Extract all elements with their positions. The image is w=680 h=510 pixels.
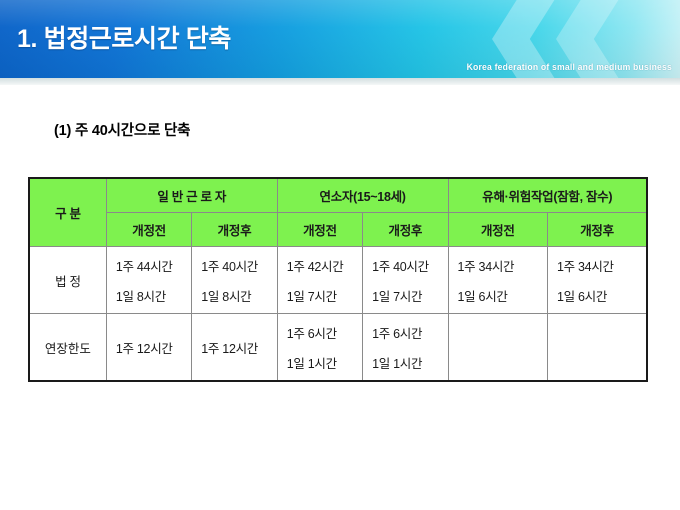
table-row: 연장한도 1주 12시간 1주 12시간 1주 6시간 1일 1시간 <box>29 314 647 382</box>
row-label-statutory: 법 정 <box>29 247 106 314</box>
banner-underline-band <box>0 78 680 85</box>
cell-overtime-youth-before: 1주 6시간 1일 1시간 <box>277 314 362 382</box>
cell-line-week: 1주 40시간 <box>372 256 441 275</box>
cell-statutory-general-after: 1주 40시간 1일 8시간 <box>192 247 277 314</box>
cell-line-week: 1주 34시간 <box>557 256 640 275</box>
table-header-gubun: 구 분 <box>29 178 106 247</box>
cell-content: 1주 44시간 1일 8시간 <box>107 247 191 313</box>
cell-overtime-hazardous-after <box>547 314 647 382</box>
working-hours-table: 구 분 일 반 근 로 자 연소자(15~18세) 유해·위험작업(잠함, 잠수… <box>28 177 648 382</box>
section-subtitle: (1) 주 40시간으로 단축 <box>54 119 190 140</box>
cell-statutory-general-before: 1주 44시간 1일 8시간 <box>106 247 191 314</box>
cell-statutory-hazardous-before: 1주 34시간 1일 6시간 <box>448 247 547 314</box>
cell-content: 1주 34시간 1일 6시간 <box>548 247 646 313</box>
cell-line-day: 1일 8시간 <box>201 286 270 305</box>
table-subheader-general-before: 개정전 <box>106 213 191 247</box>
table-header-group-row: 구 분 일 반 근 로 자 연소자(15~18세) 유해·위험작업(잠함, 잠수… <box>29 178 647 213</box>
row-label-overtime-limit: 연장한도 <box>29 314 106 382</box>
table-subheader-youth-after: 개정후 <box>363 213 448 247</box>
cell-line-day: 1일 8시간 <box>116 286 185 305</box>
cell-content: 1주 12시간 <box>107 314 191 380</box>
table-subheader-general-after: 개정후 <box>192 213 277 247</box>
cell-content: 1주 34시간 1일 6시간 <box>449 247 547 313</box>
cell-content: 1주 40시간 1일 8시간 <box>192 247 276 313</box>
cell-content: 1주 6시간 1일 1시간 <box>363 314 447 380</box>
table-header-group-general: 일 반 근 로 자 <box>106 178 277 213</box>
cell-line-week: 1주 40시간 <box>201 256 270 275</box>
cell-line-week: 1주 34시간 <box>458 256 541 275</box>
cell-content-empty <box>449 314 547 380</box>
cell-statutory-youth-after: 1주 40시간 1일 7시간 <box>363 247 448 314</box>
table-header-group-hazardous: 유해·위험작업(잠함, 잠수) <box>448 178 647 213</box>
cell-line-week: 1주 6시간 <box>372 323 441 342</box>
cell-content: 1주 6시간 1일 1시간 <box>278 314 362 380</box>
cell-line-day: 1일 6시간 <box>458 286 541 305</box>
cell-line-week: 1주 12시간 <box>201 338 270 357</box>
working-hours-table-wrap: 구 분 일 반 근 로 자 연소자(15~18세) 유해·위험작업(잠함, 잠수… <box>28 177 648 382</box>
cell-line-week: 1주 44시간 <box>116 256 185 275</box>
table-header-group-youth: 연소자(15~18세) <box>277 178 448 213</box>
cell-content: 1주 42시간 1일 7시간 <box>278 247 362 313</box>
page-title: 1. 법정근로시간 단축 <box>17 19 231 55</box>
cell-overtime-youth-after: 1주 6시간 1일 1시간 <box>363 314 448 382</box>
table-subheader-hazardous-after: 개정후 <box>547 213 647 247</box>
cell-content-empty <box>548 314 646 380</box>
cell-statutory-youth-before: 1주 42시간 1일 7시간 <box>277 247 362 314</box>
cell-line-week: 1주 42시간 <box>287 256 356 275</box>
cell-line-day: 1일 7시간 <box>372 286 441 305</box>
table-subheader-hazardous-before: 개정전 <box>448 213 547 247</box>
cell-content: 1주 12시간 <box>192 314 276 380</box>
cell-overtime-hazardous-before <box>448 314 547 382</box>
organization-tagline: Korea federation of small and medium bus… <box>467 62 673 72</box>
cell-line-day: 1일 7시간 <box>287 286 356 305</box>
cell-statutory-hazardous-after: 1주 34시간 1일 6시간 <box>547 247 647 314</box>
table-row: 법 정 1주 44시간 1일 8시간 1주 40시간 1일 8시간 1주 42시 <box>29 247 647 314</box>
cell-content: 1주 40시간 1일 7시간 <box>363 247 447 313</box>
cell-overtime-general-after: 1주 12시간 <box>192 314 277 382</box>
table-subheader-youth-before: 개정전 <box>277 213 362 247</box>
cell-line-week: 1주 12시간 <box>116 338 185 357</box>
table-header-sub-row: 개정전 개정후 개정전 개정후 개정전 개정후 <box>29 213 647 247</box>
cell-line-day: 1일 1시간 <box>287 353 356 372</box>
cell-line-week: 1주 6시간 <box>287 323 356 342</box>
cell-line-day: 1일 1시간 <box>372 353 441 372</box>
cell-line-day: 1일 6시간 <box>557 286 640 305</box>
cell-overtime-general-before: 1주 12시간 <box>106 314 191 382</box>
header-banner: 1. 법정근로시간 단축 Korea federation of small a… <box>0 0 680 78</box>
